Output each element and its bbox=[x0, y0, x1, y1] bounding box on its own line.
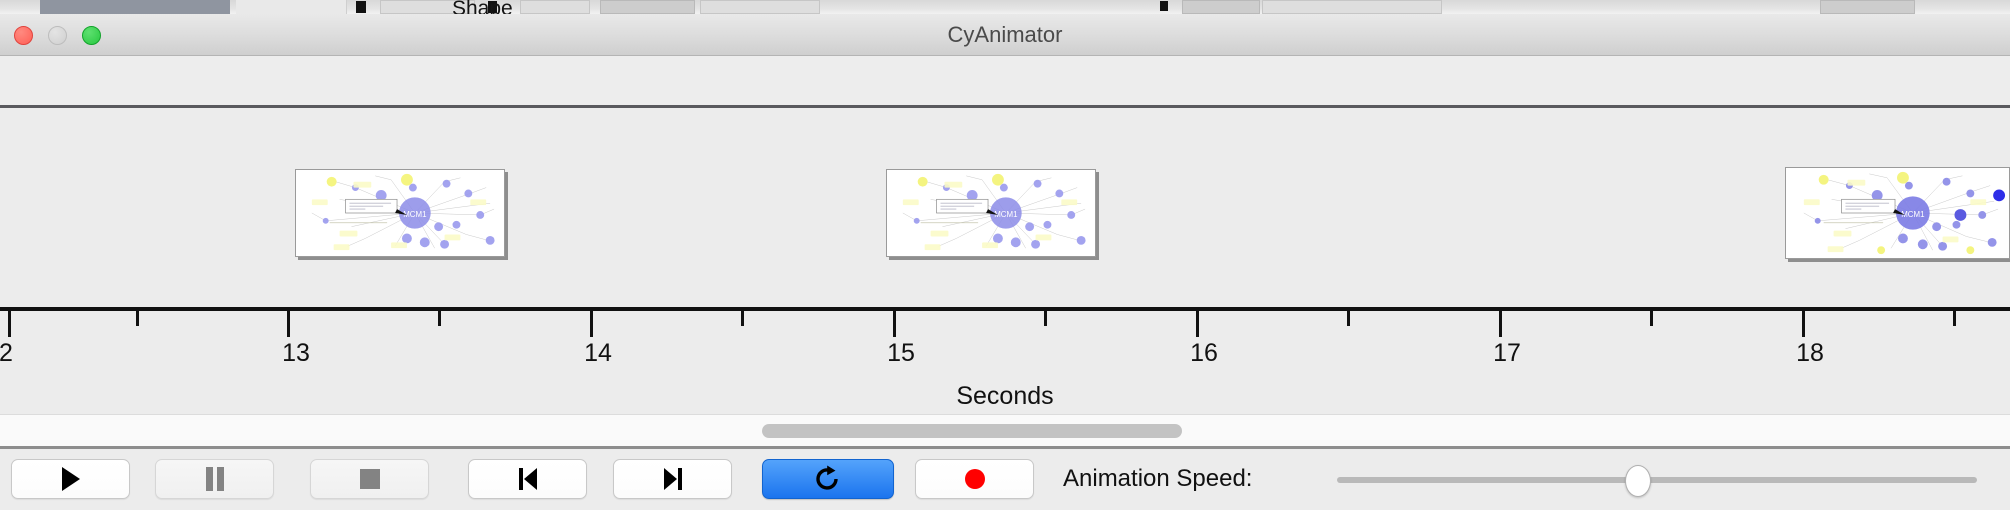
axis-tick-label: 14 bbox=[584, 339, 612, 368]
svg-text:MCM1: MCM1 bbox=[403, 210, 426, 219]
frames-layer: MCM1 bbox=[0, 111, 2010, 311]
title-bar: CyAnimator bbox=[0, 14, 2010, 56]
background-window-box bbox=[600, 0, 695, 14]
timeline-frame-thumbnail[interactable]: MCM1 bbox=[886, 169, 1096, 257]
background-window-segment bbox=[236, 0, 347, 14]
background-window-shape-label: Shape bbox=[452, 0, 513, 14]
axis-minor-tick bbox=[438, 311, 441, 326]
background-window-dark-segment bbox=[40, 0, 230, 14]
scrollbar-thumb[interactable] bbox=[762, 424, 1182, 438]
axis-major-tick bbox=[287, 311, 290, 337]
axis-line bbox=[0, 307, 2010, 311]
skip-start-icon bbox=[516, 466, 540, 492]
loop-icon bbox=[815, 465, 841, 493]
axis-tick-label: 15 bbox=[887, 339, 915, 368]
timeline-panel[interactable]: MCM1 bbox=[0, 111, 2010, 414]
axis-tick-label: 16 bbox=[1190, 339, 1218, 368]
cyanimator-window: Shape CyAnimator ✚ Clear All Frames bbox=[0, 0, 2010, 510]
background-window-box bbox=[700, 0, 820, 14]
slider-thumb[interactable] bbox=[1625, 465, 1651, 497]
background-window-strip: Shape bbox=[0, 0, 2010, 14]
axis-major-tick bbox=[8, 311, 11, 337]
animation-speed-slider[interactable] bbox=[1337, 477, 1977, 483]
pause-icon bbox=[204, 466, 226, 492]
axis-major-tick bbox=[893, 311, 896, 337]
skip-end-icon bbox=[661, 466, 685, 492]
svg-text:MCM1: MCM1 bbox=[1901, 210, 1924, 219]
axis-title: Seconds bbox=[0, 382, 2010, 411]
stop-icon bbox=[358, 467, 382, 491]
axis-tick-label: 2 bbox=[0, 339, 13, 368]
network-thumbnail-icon: MCM1 bbox=[887, 170, 1095, 256]
axis-minor-tick bbox=[741, 311, 744, 326]
svg-text:MCM1: MCM1 bbox=[994, 210, 1017, 219]
axis-minor-tick bbox=[1347, 311, 1350, 326]
record-icon bbox=[963, 467, 987, 491]
axis-major-tick bbox=[1196, 311, 1199, 337]
stop-button[interactable] bbox=[310, 459, 429, 499]
network-thumbnail-icon: MCM1 bbox=[1786, 168, 2009, 258]
toolbar: ✚ Clear All Frames bbox=[0, 56, 2010, 108]
timeline-frame-thumbnail[interactable]: MCM1 bbox=[1785, 167, 2010, 259]
timeline-scrollbar[interactable] bbox=[0, 414, 2010, 446]
timeline-frame-thumbnail[interactable]: MCM1 bbox=[295, 169, 505, 257]
window-title: CyAnimator bbox=[0, 14, 2010, 56]
axis-minor-tick bbox=[1044, 311, 1047, 326]
loop-button[interactable] bbox=[762, 459, 894, 499]
skip-end-button[interactable] bbox=[613, 459, 732, 499]
axis-tick-label: 18 bbox=[1796, 339, 1824, 368]
axis-minor-tick bbox=[1650, 311, 1653, 326]
axis-tick-label: 17 bbox=[1493, 339, 1521, 368]
pause-button[interactable] bbox=[155, 459, 274, 499]
background-window-box bbox=[1262, 0, 1442, 14]
background-window-box bbox=[1820, 0, 1915, 14]
axis-major-tick bbox=[1499, 311, 1502, 337]
animation-speed-label: Animation Speed: bbox=[1063, 459, 1252, 499]
background-window-box bbox=[520, 0, 590, 14]
player-bar: Animation Speed: bbox=[0, 446, 2010, 510]
record-button[interactable] bbox=[915, 459, 1034, 499]
timeline-axis: 2 13 14 15 16 17 18 Seconds bbox=[0, 307, 2010, 414]
network-thumbnail-icon: MCM1 bbox=[296, 170, 504, 256]
axis-minor-tick bbox=[1953, 311, 1956, 326]
axis-tick-label: 13 bbox=[282, 339, 310, 368]
background-window-box bbox=[1182, 0, 1260, 14]
play-icon bbox=[59, 466, 83, 492]
play-button[interactable] bbox=[11, 459, 130, 499]
skip-start-button[interactable] bbox=[468, 459, 587, 499]
axis-minor-tick bbox=[136, 311, 139, 326]
axis-major-tick bbox=[590, 311, 593, 337]
background-window-glyph bbox=[1160, 1, 1168, 11]
slider-track[interactable] bbox=[1337, 477, 1977, 483]
background-window-glyph bbox=[356, 1, 366, 13]
axis-major-tick bbox=[1802, 311, 1805, 337]
